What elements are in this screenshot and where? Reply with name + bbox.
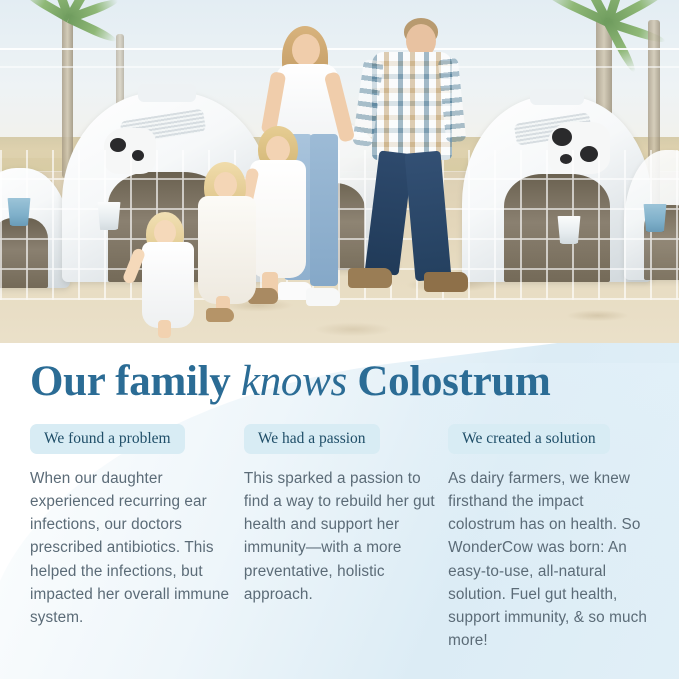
father-boot-left: [348, 268, 392, 288]
status-badge-passion: We had a passion: [244, 424, 380, 454]
hero-photo: [0, 0, 679, 343]
story-column-solution: We created a solution As dairy farmers, …: [448, 424, 649, 653]
middle-girl-boot: [206, 308, 234, 322]
middle-girl-dress: [198, 196, 256, 304]
feed-bucket-blue: [642, 204, 668, 232]
story-body-solution: As dairy farmers, we knew firsthand the …: [448, 467, 649, 653]
father-boot-right: [424, 272, 468, 292]
headline-part-2: Colostrum: [347, 358, 551, 405]
feed-bucket-white: [556, 216, 582, 244]
overhead-wire: [0, 48, 679, 50]
status-badge-solution: We created a solution: [448, 424, 609, 454]
story-column-passion: We had a passion This sparked a passion …: [244, 424, 435, 653]
feed-bucket-white: [96, 202, 122, 230]
mother-sneaker-right: [306, 288, 340, 306]
feed-bucket-blue: [6, 198, 32, 226]
page-title: Our family knows Colostrum: [30, 359, 649, 405]
headline-part-1: Our family: [30, 358, 241, 405]
story-column-problem: We found a problem When our daughter exp…: [30, 424, 231, 653]
toddler-girl-dress: [142, 242, 194, 328]
headline-italic-word: knows: [241, 358, 347, 405]
story-columns: We found a problem When our daughter exp…: [30, 424, 649, 653]
hutch-cap: [138, 84, 197, 101]
content-section: Our family knows Colostrum We found a pr…: [0, 343, 679, 679]
overhead-wire: [0, 66, 679, 68]
story-body-problem: When our daughter experienced recurring …: [30, 467, 231, 630]
story-body-passion: This sparked a passion to find a way to …: [244, 467, 435, 607]
hutch-cap: [530, 89, 583, 106]
status-badge-problem: We found a problem: [30, 424, 185, 454]
palm-fronds-icon: [24, 0, 114, 44]
older-girl-dress: [250, 160, 306, 278]
mother-jeans-right: [310, 134, 338, 286]
